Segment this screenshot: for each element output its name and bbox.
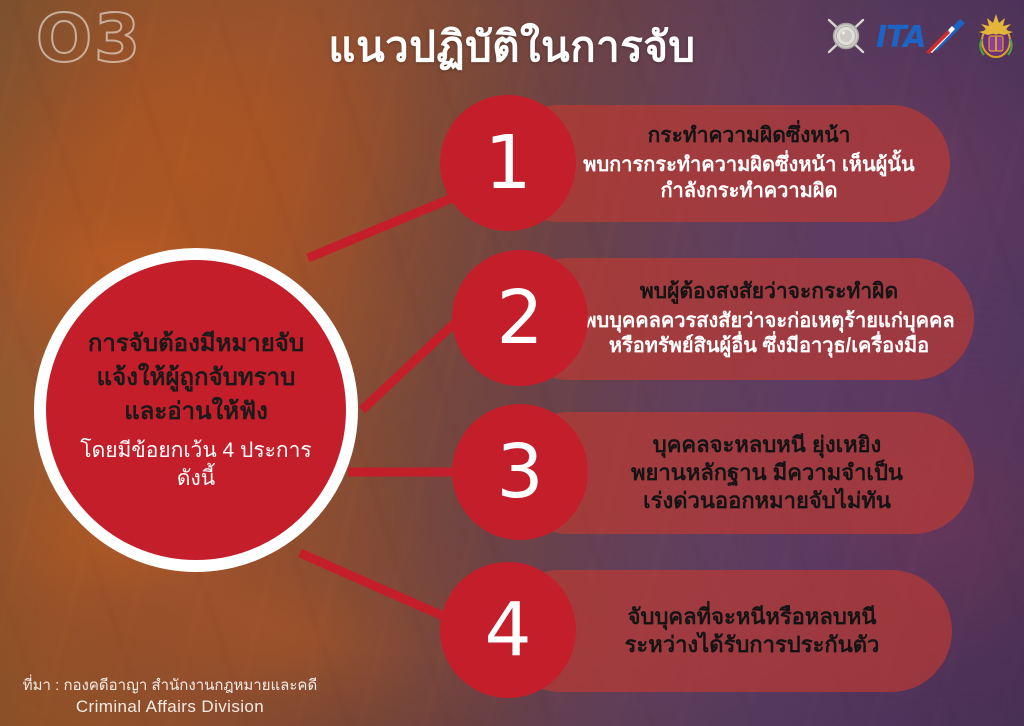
infographic-slide: O3 แนวปฏิบัติในการจับ ITA: [0, 0, 1024, 726]
police-seal-icon: [822, 12, 870, 60]
item-4-body-line-2: ระหว่างได้รับการประกันตัว: [625, 631, 880, 659]
item-3-body-line-1: บุคคลจะหลบหนี ยุ่งเหยิง: [653, 431, 881, 459]
item-1-body-line-1: พบการกระทำความผิดซึ่งหน้า เห็นผู้นั้น: [583, 153, 914, 178]
item-2-body-line-2: หรือทรัพย์สินผู้อื่น ซึ่งมีอาวุธ/เครื่อง…: [609, 334, 929, 359]
item-3-body-line-2: พยานหลักฐาน มีความจำเป็น: [631, 459, 903, 487]
royal-garuda-emblem-icon: [974, 11, 1018, 61]
svg-text:ITA: ITA: [876, 20, 926, 55]
item-4-number: 4: [484, 593, 531, 667]
hub-sub-line-2: ดังนี้: [177, 465, 215, 492]
footer-source-en: Criminal Affairs Division: [10, 696, 330, 718]
hub-sub-line-1: โดยมีข้อยกเว้น 4 ประการ: [80, 437, 311, 464]
item-2-heading: พบผู้ต้องสงสัยว่าจะกระทำผิด: [640, 279, 898, 305]
item-2-number: 2: [496, 281, 543, 355]
item-2-number-bubble: 2: [452, 250, 588, 386]
item-1-number-bubble: 1: [440, 95, 576, 231]
item-4-number-bubble: 4: [440, 562, 576, 698]
hub-strong-line-1: การจับต้องมีหมายจับ: [88, 328, 304, 360]
item-4-body-line-1: จับบุคลที่จะหนีหรือหลบหนี: [628, 603, 877, 631]
item-1-heading: กระทำความผิดซึ่งหน้า: [648, 123, 851, 149]
footer-source: ที่มา : กองคดีอาญา สำนักงานกฎหมายและคดี …: [10, 676, 330, 718]
logo-group: ITA: [822, 10, 1018, 62]
item-1-body-line-2: กำลังกระทำความผิด: [660, 179, 837, 204]
item-3-body-line-3: เร่งด่วนออกหมายจับไม่ทัน: [643, 487, 891, 515]
item-3-number-bubble: 3: [452, 404, 588, 540]
ita-logo-icon: ITA: [874, 16, 970, 56]
hub-strong-line-3: และอ่านให้ฟัง: [124, 396, 268, 428]
footer-source-th: ที่มา : กองคดีอาญา สำนักงานกฎหมายและคดี: [10, 676, 330, 696]
hub-strong-line-2: แจ้งให้ผู้ถูกจับทราบ: [97, 362, 296, 394]
item-1-number: 1: [484, 126, 531, 200]
item-2-body-line-1: พบบุคคลควรสงสัยว่าจะก่อเหตุร้ายแก่บุคคล: [583, 309, 954, 334]
central-hub: การจับต้องมีหมายจับ แจ้งให้ผู้ถูกจับทราบ…: [34, 248, 358, 572]
item-3-number: 3: [496, 435, 543, 509]
